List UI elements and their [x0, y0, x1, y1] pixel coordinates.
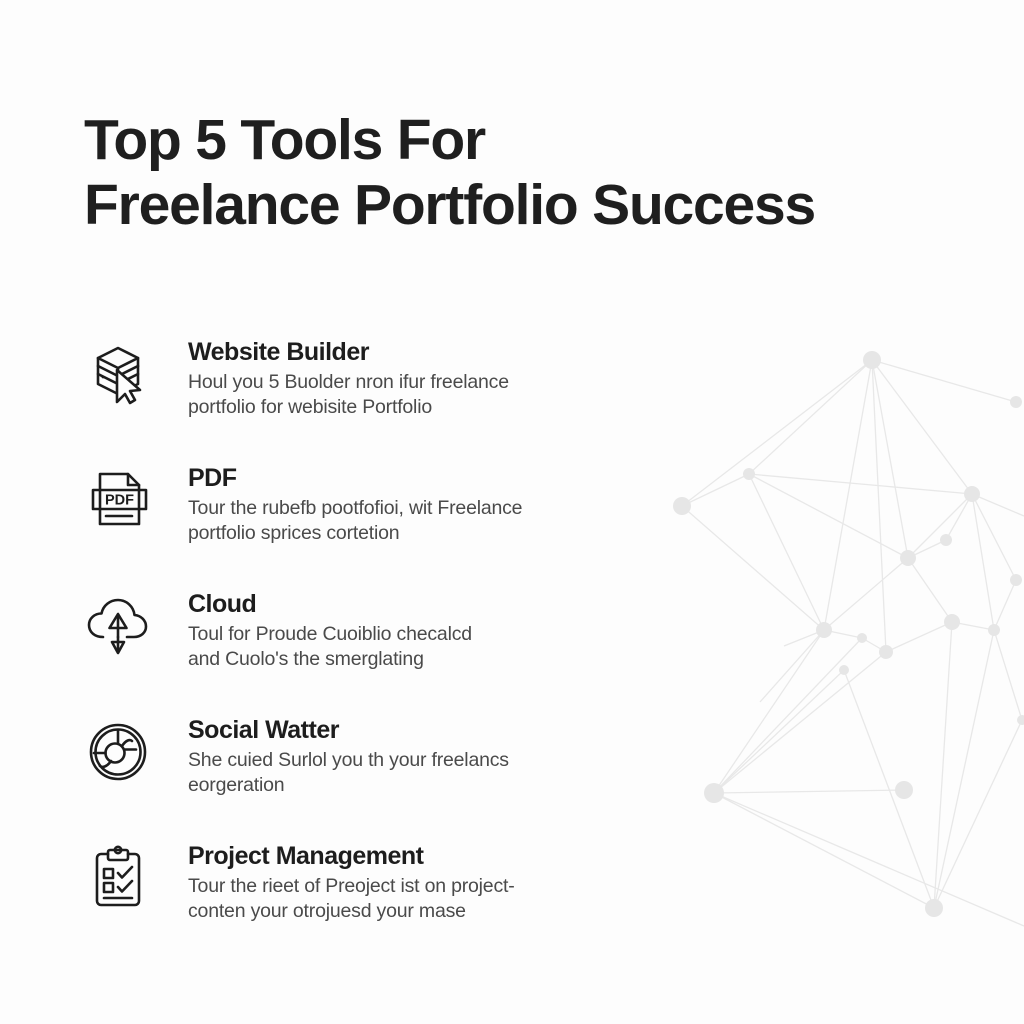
- network-graph-decoration: [664, 330, 1024, 990]
- description-line-1: Houl you 5 Buolder nron ifur freelance: [188, 370, 509, 395]
- list-item-text: Project Management Tour the rieet of Pre…: [188, 840, 515, 924]
- page-title-line-1: Top 5 Tools For: [84, 108, 944, 173]
- list-item-heading: Social Watter: [188, 716, 509, 745]
- network-edges: [682, 360, 1024, 926]
- list-item-social-watter[interactable]: Social Watter She cuied Surlol you th yo…: [84, 714, 704, 800]
- description-line-1: She cuied Surlol you th your freelancs: [188, 748, 509, 773]
- list-item-pdf[interactable]: PDF PDF Tour the rubefb pootfofioi, wit …: [84, 462, 704, 548]
- list-item-description: She cuied Surlol you th your freelancs e…: [188, 748, 509, 798]
- list-item-text: PDF Tour the rubefb pootfofioi, wit Free…: [188, 462, 522, 546]
- list-item-description: Toul for Proude Cuoiblio checalcd and Cu…: [188, 622, 472, 672]
- list-item-text: Website Builder Houl you 5 Buolder nron …: [188, 336, 509, 420]
- list-item-description: Tour the rieet of Preoject ist on projec…: [188, 874, 515, 924]
- clipboard-checklist-icon: [84, 844, 158, 918]
- list-item-heading: Cloud: [188, 590, 472, 619]
- description-line-2: and Cuolo's the smerglating: [188, 647, 472, 672]
- list-item-text: Cloud Toul for Proude Cuoiblio checalcd …: [188, 588, 472, 672]
- description-line-1: Tour the rubefb pootfofioi, wit Freelanc…: [188, 496, 522, 521]
- list-item-website-builder[interactable]: Website Builder Houl you 5 Buolder nron …: [84, 336, 704, 422]
- list-item-heading: PDF: [188, 464, 522, 493]
- infographic-poster: Top 5 Tools For Freelance Portfolio Succ…: [0, 0, 1024, 1024]
- pdf-document-icon: PDF: [84, 466, 158, 540]
- list-item-heading: Website Builder: [188, 338, 509, 367]
- social-network-circle-icon: [84, 718, 158, 792]
- description-line-2: portfolio for webisite Portfolio: [188, 395, 509, 420]
- list-item-description: Houl you 5 Buolder nron ifur freelance p…: [188, 370, 509, 420]
- description-line-1: Toul for Proude Cuoiblio checalcd: [188, 622, 472, 647]
- list-item-description: Tour the rubefb pootfofioi, wit Freelanc…: [188, 496, 522, 546]
- description-line-2: conten your otrojuesd your mase: [188, 899, 515, 924]
- list-item-cloud[interactable]: Cloud Toul for Proude Cuoiblio checalcd …: [84, 588, 704, 674]
- list-item-heading: Project Management: [188, 842, 515, 871]
- tool-list: Website Builder Houl you 5 Buolder nron …: [84, 336, 704, 926]
- page-title: Top 5 Tools For Freelance Portfolio Succ…: [84, 108, 944, 238]
- list-item-text: Social Watter She cuied Surlol you th yo…: [188, 714, 509, 798]
- description-line-1: Tour the rieet of Preoject ist on projec…: [188, 874, 515, 899]
- description-line-2: portfolio sprices cortetion: [188, 521, 522, 546]
- list-item-project-management[interactable]: Project Management Tour the rieet of Pre…: [84, 840, 704, 926]
- cloud-upload-download-icon: [84, 592, 158, 666]
- description-line-2: eorgeration: [188, 773, 509, 798]
- network-nodes: [673, 351, 1024, 917]
- stacked-layers-cursor-icon: [84, 340, 158, 414]
- pdf-icon-label: PDF: [105, 493, 134, 509]
- page-title-line-2: Freelance Portfolio Success: [84, 173, 944, 238]
